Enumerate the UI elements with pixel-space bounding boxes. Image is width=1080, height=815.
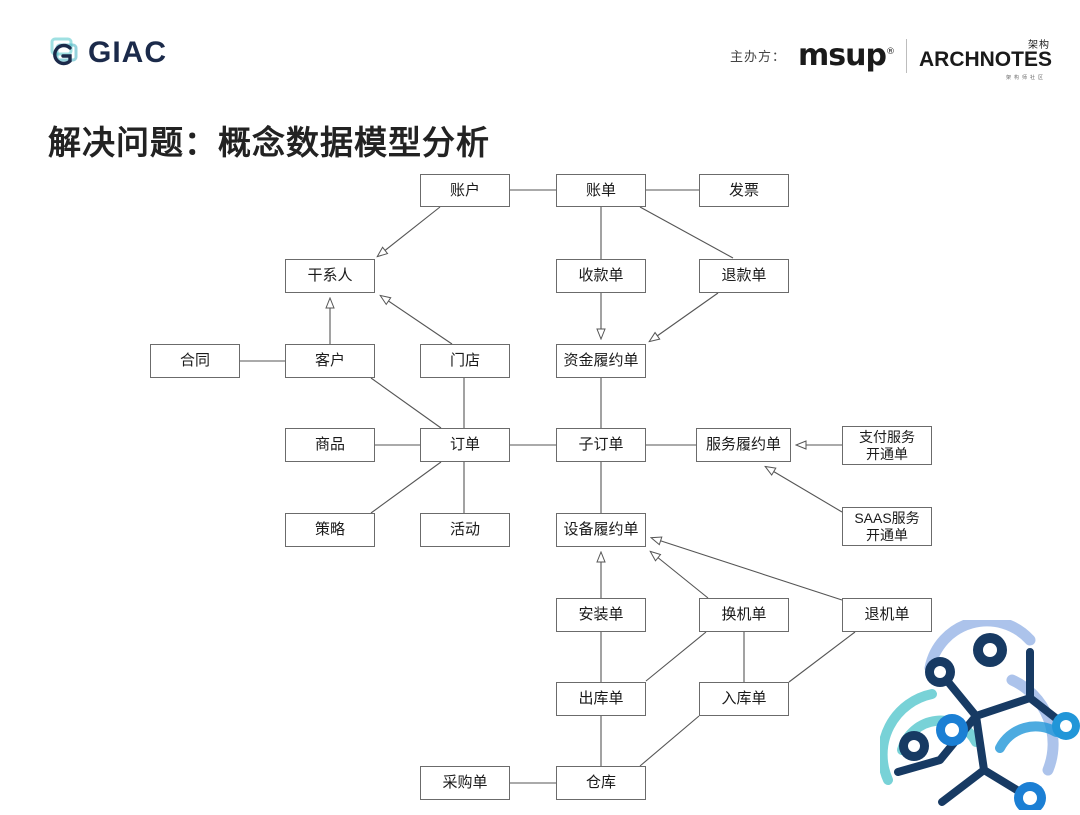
- diagram-node-label: 客户: [315, 352, 345, 370]
- diagram-node-receipt[interactable]: 收款单: [556, 259, 646, 293]
- diagram-edge-store-to-stakeholder: [381, 296, 452, 344]
- diagram-node-account[interactable]: 账户: [420, 174, 510, 207]
- diagram-edge-bill-to-refund: [640, 207, 733, 258]
- diagram-node-label: 采购单: [442, 774, 487, 792]
- diagram-node-return-order[interactable]: 退机单: [842, 598, 932, 632]
- diagram-node-service-fulfillment[interactable]: 服务履约单: [696, 428, 791, 462]
- diagram-node-label: 资金履约单: [563, 352, 638, 370]
- diagram-node-label: 退款单: [721, 267, 766, 285]
- diagram-node-fund-fulfillment[interactable]: 资金履约单: [556, 344, 646, 378]
- diagram-edge-outbound-order-to-swap-order: [646, 632, 706, 681]
- diagram-node-customer[interactable]: 客户: [285, 344, 375, 378]
- diagram-node-install-order[interactable]: 安装单: [556, 598, 646, 632]
- diagram-node-product[interactable]: 商品: [285, 428, 375, 462]
- diagram-node-label: 发票: [729, 182, 759, 200]
- diagram-edges-layer: [0, 0, 1080, 810]
- diagram-node-label: 账户: [450, 182, 480, 200]
- diagram-node-label: SAAS服务 开通单: [854, 510, 919, 544]
- diagram-node-label: 安装单: [578, 606, 623, 624]
- diagram-node-outbound-order[interactable]: 出库单: [556, 682, 646, 716]
- diagram-edge-return-order-to-inbound-order: [789, 632, 855, 682]
- diagram-edge-account-to-stakeholder: [378, 207, 440, 256]
- diagram-node-label: 换机单: [721, 606, 766, 624]
- diagram-node-stakeholder[interactable]: 干系人: [285, 259, 375, 293]
- diagram-node-contract[interactable]: 合同: [150, 344, 240, 378]
- diagram-node-invoice[interactable]: 发票: [699, 174, 789, 207]
- diagram-node-label: 商品: [315, 436, 345, 454]
- diagram-node-label: 设备履约单: [563, 521, 638, 539]
- diagram-node-label: 子订单: [578, 436, 623, 454]
- diagram-node-label: 入库单: [721, 690, 766, 708]
- diagram-node-refund[interactable]: 退款单: [699, 259, 789, 293]
- diagram-node-label: 收款单: [578, 267, 623, 285]
- concept-data-model-diagram: 账户账单发票干系人收款单退款单合同客户门店资金履约单商品订单子订单服务履约单支付…: [0, 0, 1080, 810]
- diagram-node-pay-service-open[interactable]: 支付服务 开通单: [842, 426, 932, 465]
- diagram-node-label: 账单: [586, 182, 616, 200]
- diagram-edge-return-order-to-device-fulfillment: [652, 538, 842, 600]
- diagram-node-purchase-order[interactable]: 采购单: [420, 766, 510, 800]
- diagram-node-label: 干系人: [307, 267, 352, 285]
- diagram-edge-inbound-order-to-warehouse: [640, 716, 699, 766]
- diagram-node-label: 仓库: [586, 774, 616, 792]
- diagram-edge-customer-to-order: [371, 378, 441, 428]
- diagram-node-label: 退机单: [864, 606, 909, 624]
- diagram-node-label: 出库单: [578, 690, 623, 708]
- diagram-edge-order-to-strategy: [371, 462, 441, 513]
- diagram-node-label: 活动: [450, 521, 480, 539]
- diagram-node-saas-service-open[interactable]: SAAS服务 开通单: [842, 507, 932, 546]
- diagram-node-device-fulfillment[interactable]: 设备履约单: [556, 513, 646, 547]
- diagram-edge-refund-to-fund-fulfillment: [650, 293, 718, 341]
- diagram-edge-saas-service-open-to-service-fulfillment: [766, 467, 842, 512]
- diagram-node-store[interactable]: 门店: [420, 344, 510, 378]
- diagram-node-label: 门店: [450, 352, 480, 370]
- diagram-edge-swap-order-to-device-fulfillment: [651, 552, 708, 598]
- diagram-node-strategy[interactable]: 策略: [285, 513, 375, 547]
- diagram-node-label: 订单: [450, 436, 480, 454]
- diagram-node-sub-order[interactable]: 子订单: [556, 428, 646, 462]
- diagram-node-swap-order[interactable]: 换机单: [699, 598, 789, 632]
- diagram-node-warehouse[interactable]: 仓库: [556, 766, 646, 800]
- diagram-node-label: 支付服务 开通单: [859, 429, 915, 463]
- diagram-node-order[interactable]: 订单: [420, 428, 510, 462]
- diagram-node-label: 服务履约单: [706, 436, 781, 454]
- diagram-node-inbound-order[interactable]: 入库单: [699, 682, 789, 716]
- diagram-node-bill[interactable]: 账单: [556, 174, 646, 207]
- diagram-node-campaign[interactable]: 活动: [420, 513, 510, 547]
- diagram-node-label: 策略: [315, 521, 345, 539]
- diagram-node-label: 合同: [180, 352, 210, 370]
